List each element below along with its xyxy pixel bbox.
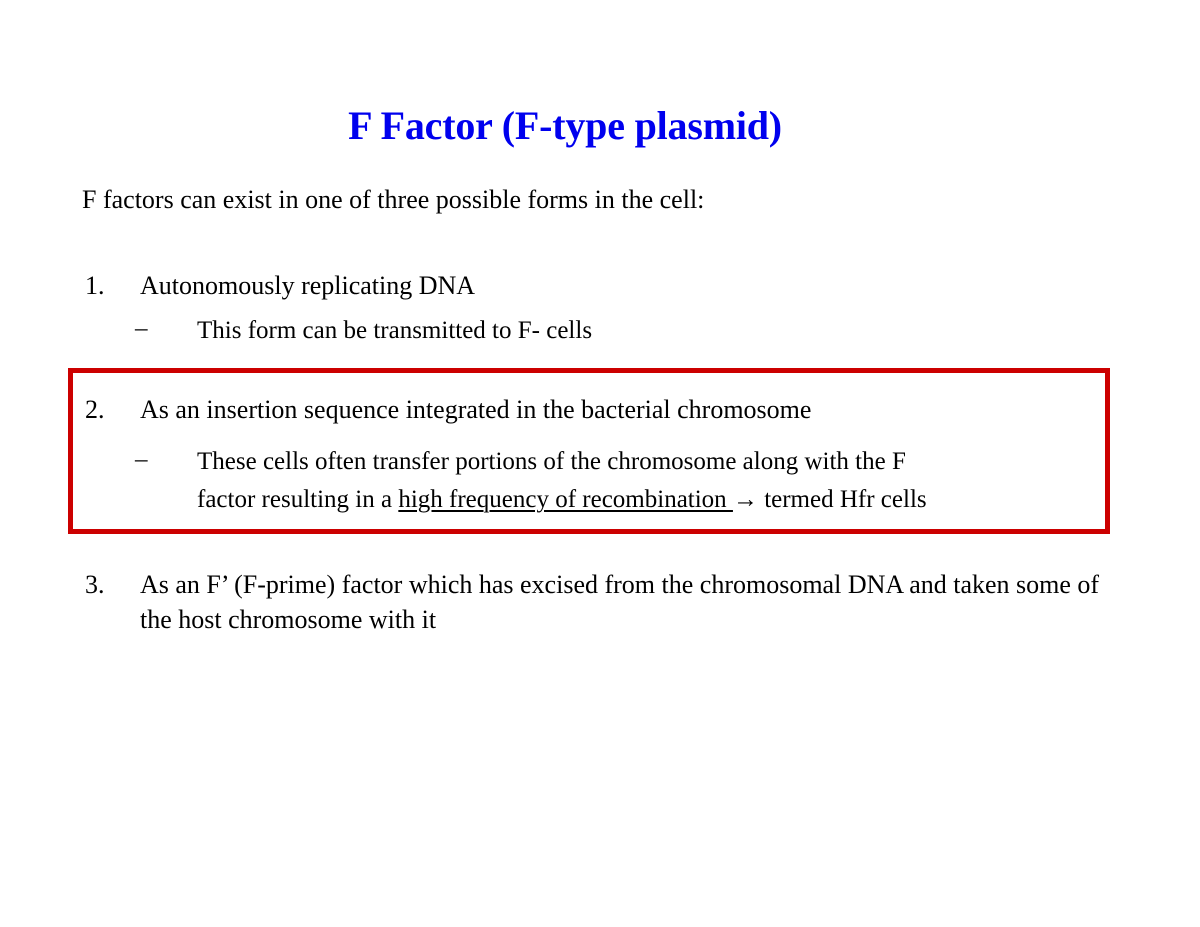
list-item-2-sub-1-line-1: These cells often transfer portions of t… [197, 443, 1090, 481]
list-item-3-line-1: As an F’ (F-prime) factor which has exci… [140, 570, 947, 599]
list-item-1-sub-1: – This form can be transmitted to F- cel… [135, 312, 895, 350]
list-item-3-marker: 3. [85, 568, 125, 603]
list-item-1-label: Autonomously replicating DNA [140, 269, 885, 304]
dash-bullet-icon: – [135, 312, 171, 346]
list-item-1-marker: 1. [85, 269, 125, 304]
slide-canvas: F Factor (F-type plasmid) F factors can … [0, 0, 1200, 927]
list-item-3-label: As an F’ (F-prime) factor which has exci… [140, 568, 1125, 637]
right-arrow-icon: → [733, 486, 758, 513]
list-item-2-sub-1: – These cells often transfer portions of… [135, 443, 1090, 518]
list-item-2: 2. As an insertion sequence integrated i… [85, 393, 1065, 428]
recombination-suffix-text: termed Hfr cells [758, 486, 927, 513]
dash-bullet-icon: – [135, 443, 171, 477]
recombination-prefix-text: factor resulting in a [197, 486, 398, 513]
list-item-2-sub-1-line-2: factor resulting in a high frequency of … [197, 481, 1090, 519]
list-item-1-sub-1-label: This form can be transmitted to F- cells [197, 312, 895, 350]
list-item-1: 1. Autonomously replicating DNA [85, 269, 885, 304]
recombination-underlined-phrase: high frequency of recombination [398, 486, 733, 513]
list-item-2-label: As an insertion sequence integrated in t… [140, 393, 1065, 428]
numbered-list: 1. Autonomously replicating DNA – This f… [0, 0, 1200, 927]
list-item-2-marker: 2. [85, 393, 125, 428]
list-item-2-sub-1-label: These cells often transfer portions of t… [197, 443, 1090, 518]
list-item-3: 3. As an F’ (F-prime) factor which has e… [85, 568, 1125, 637]
